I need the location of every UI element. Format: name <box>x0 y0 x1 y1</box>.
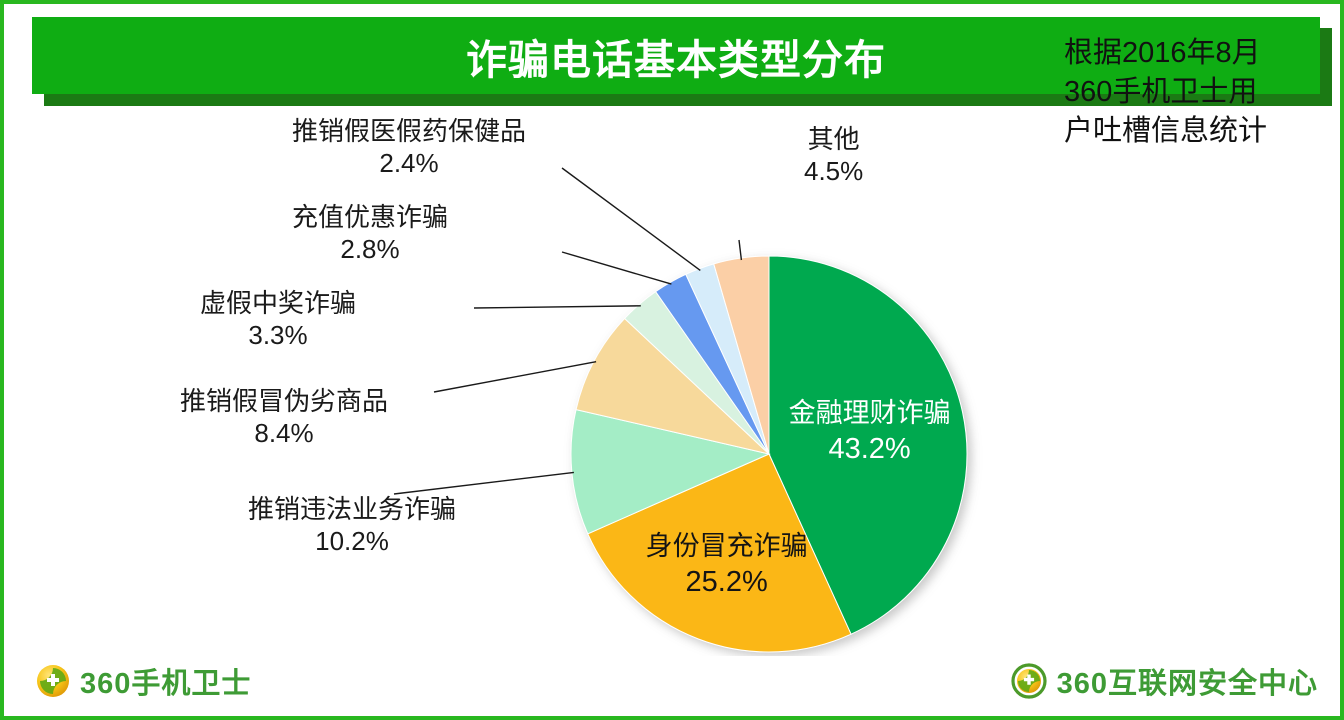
source-note-line-1: 根据2016年8月 <box>1064 34 1314 73</box>
slice-label-text: 身份冒充诈骗 <box>646 531 808 561</box>
leader-line <box>434 362 596 392</box>
slice-label-金融理财诈骗: 金融理财诈骗 43.2% <box>750 396 990 469</box>
slice-label-value: 4.5% <box>804 156 863 188</box>
slide-page: 诈骗电话基本类型分布 根据2016年8月 360手机卫士用 户吐槽信息统计 推销… <box>0 0 1344 720</box>
360-wreath-icon <box>1011 663 1047 699</box>
slice-label-value: 10.2% <box>248 526 456 558</box>
slice-label-text: 其他 <box>808 124 860 154</box>
slice-label-身份冒充诈骗: 身份冒充诈骗 25.2% <box>607 529 847 602</box>
footer: 360手机卫士 360互联网安全中心 <box>4 652 1340 716</box>
slice-label-text: 充值优惠诈骗 <box>292 202 448 232</box>
leader-line <box>739 240 741 260</box>
slice-label-text: 虚假中奖诈骗 <box>200 288 356 318</box>
slice-label-text: 推销假医假药保健品 <box>292 116 526 146</box>
slice-label-虚假中奖诈骗: 虚假中奖诈骗 3.3% <box>200 288 356 351</box>
slice-label-text: 金融理财诈骗 <box>789 398 951 428</box>
pie-chart: 推销假医假药保健品 2.4% 充值优惠诈骗 2.8% 虚假中奖诈骗 3.3% 推… <box>4 108 1340 656</box>
leader-line <box>474 306 641 308</box>
slice-label-text: 推销假冒伪劣商品 <box>180 386 388 416</box>
slice-label-value: 3.3% <box>200 320 356 352</box>
leader-line <box>562 252 671 284</box>
slice-label-value: 2.4% <box>292 148 526 180</box>
leader-line <box>394 472 574 494</box>
logo-right-text: 360互联网安全中心 <box>1057 660 1318 702</box>
slice-label-text: 推销违法业务诈骗 <box>248 494 456 524</box>
slice-label-value: 2.8% <box>292 234 448 266</box>
leader-line <box>562 168 700 270</box>
source-note-line-2: 360手机卫士用 <box>1064 73 1314 112</box>
slice-label-充值优惠诈骗: 充值优惠诈骗 2.8% <box>292 202 448 265</box>
slice-label-value: 43.2% <box>750 431 990 469</box>
logo-360-mobile-guard[interactable]: 360手机卫士 <box>36 660 251 702</box>
source-note-line-3: 户吐槽信息统计 <box>1064 112 1314 151</box>
logo-left-text: 360手机卫士 <box>80 660 251 702</box>
slice-label-推销假医假药保健品: 推销假医假药保健品 2.4% <box>292 116 526 179</box>
source-note: 根据2016年8月 360手机卫士用 户吐槽信息统计 <box>1064 34 1314 151</box>
slice-label-推销违法业务诈骗: 推销违法业务诈骗 10.2% <box>248 494 456 557</box>
slice-label-value: 8.4% <box>180 418 388 450</box>
logo-360-security-center[interactable]: 360互联网安全中心 <box>1011 660 1318 702</box>
slice-label-其他: 其他 4.5% <box>804 124 863 187</box>
360-shield-icon <box>36 664 70 698</box>
slice-label-推销假冒伪劣商品: 推销假冒伪劣商品 8.4% <box>180 386 388 449</box>
slice-label-value: 25.2% <box>607 564 847 602</box>
